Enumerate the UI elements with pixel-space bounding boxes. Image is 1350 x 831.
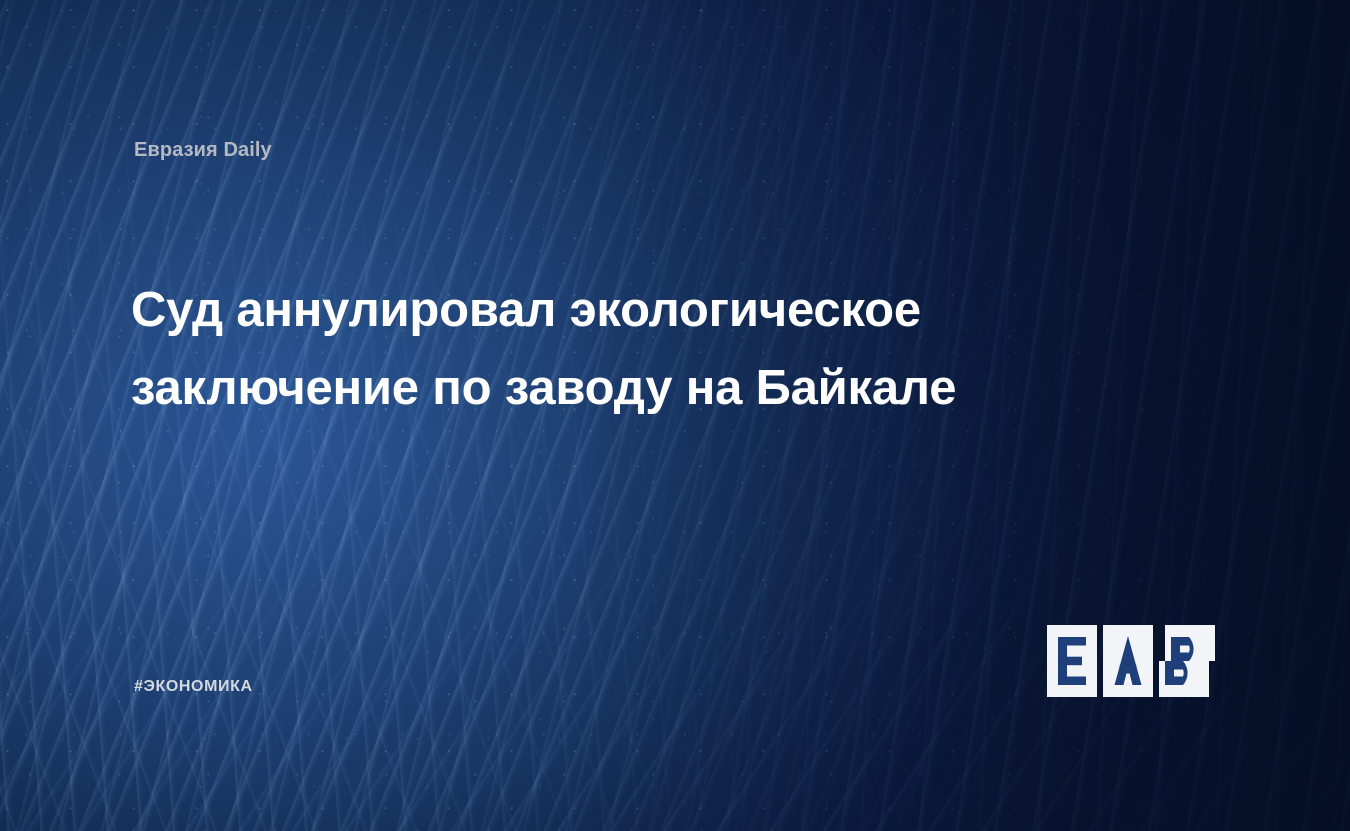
news-card: Евразия Daily Суд аннулировал экологичес… xyxy=(0,0,1350,831)
category-tag: #ЭКОНОМИКА xyxy=(134,678,253,696)
ead-logo xyxy=(1047,625,1223,697)
ead-logo-icon xyxy=(1047,625,1223,697)
brand-title: Евразия Daily xyxy=(134,139,272,162)
card-content: Евразия Daily Суд аннулировал экологичес… xyxy=(0,0,1350,831)
logo-letter-e xyxy=(1058,637,1086,685)
headline-line-2: заключение по заводу на Байкале xyxy=(131,349,1091,427)
headline: Суд аннулировал экологическое заключение… xyxy=(131,271,1091,427)
headline-line-1: Суд аннулировал экологическое xyxy=(131,271,1091,349)
